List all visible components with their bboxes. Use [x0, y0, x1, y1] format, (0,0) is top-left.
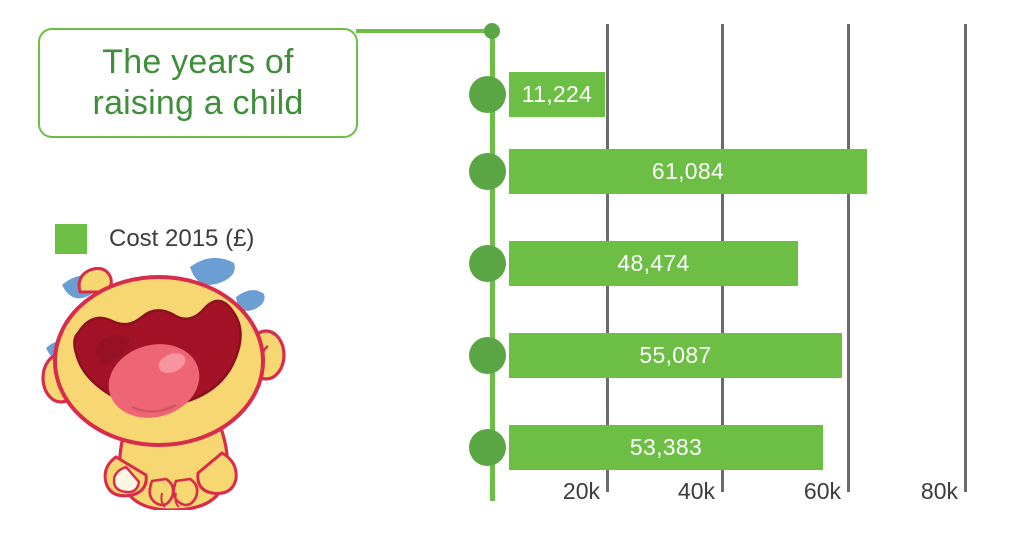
row-node-marker: [469, 245, 506, 282]
bar-first-year[interactable]: 11,224: [509, 72, 605, 117]
row-node-marker: [469, 153, 506, 190]
xtick-label-60k: 60k: [804, 478, 841, 505]
chart-legend: Cost 2015 (£): [55, 224, 254, 254]
infographic-root: The years of raising a child Cost 2015 (…: [0, 0, 1024, 538]
xtick-label-80k: 80k: [921, 478, 958, 505]
legend-label: Cost 2015 (£): [109, 225, 254, 253]
bar-value-label: 61,084: [652, 158, 724, 185]
bar-value-label: 55,087: [639, 342, 711, 369]
bar-years-5-to-10[interactable]: 48,474: [509, 241, 798, 286]
row-node-marker: [469, 429, 506, 466]
row-node-marker: [469, 76, 506, 113]
title-card: The years of raising a child: [38, 28, 358, 138]
bar-years-18-to-21[interactable]: 53,383: [509, 425, 823, 470]
bar-years-1-to-4[interactable]: 61,084: [509, 149, 867, 194]
bar-value-label: 53,383: [630, 434, 702, 461]
xtick-label-40k: 40k: [678, 478, 715, 505]
bar-value-label: 48,474: [617, 250, 689, 277]
row-node-marker: [469, 337, 506, 374]
legend-swatch-icon: [55, 224, 87, 254]
bar-value-label: 11,224: [522, 81, 592, 108]
crying-baby-illustration: [40, 245, 310, 510]
xtick-label-20k: 20k: [563, 478, 600, 505]
page-title: The years of raising a child: [93, 42, 304, 125]
x-axis-ticks: 20k 40k 60k 80k: [0, 478, 1024, 518]
bar-years-11-to-17[interactable]: 55,087: [509, 333, 842, 378]
axis-top-dot: [484, 23, 500, 39]
